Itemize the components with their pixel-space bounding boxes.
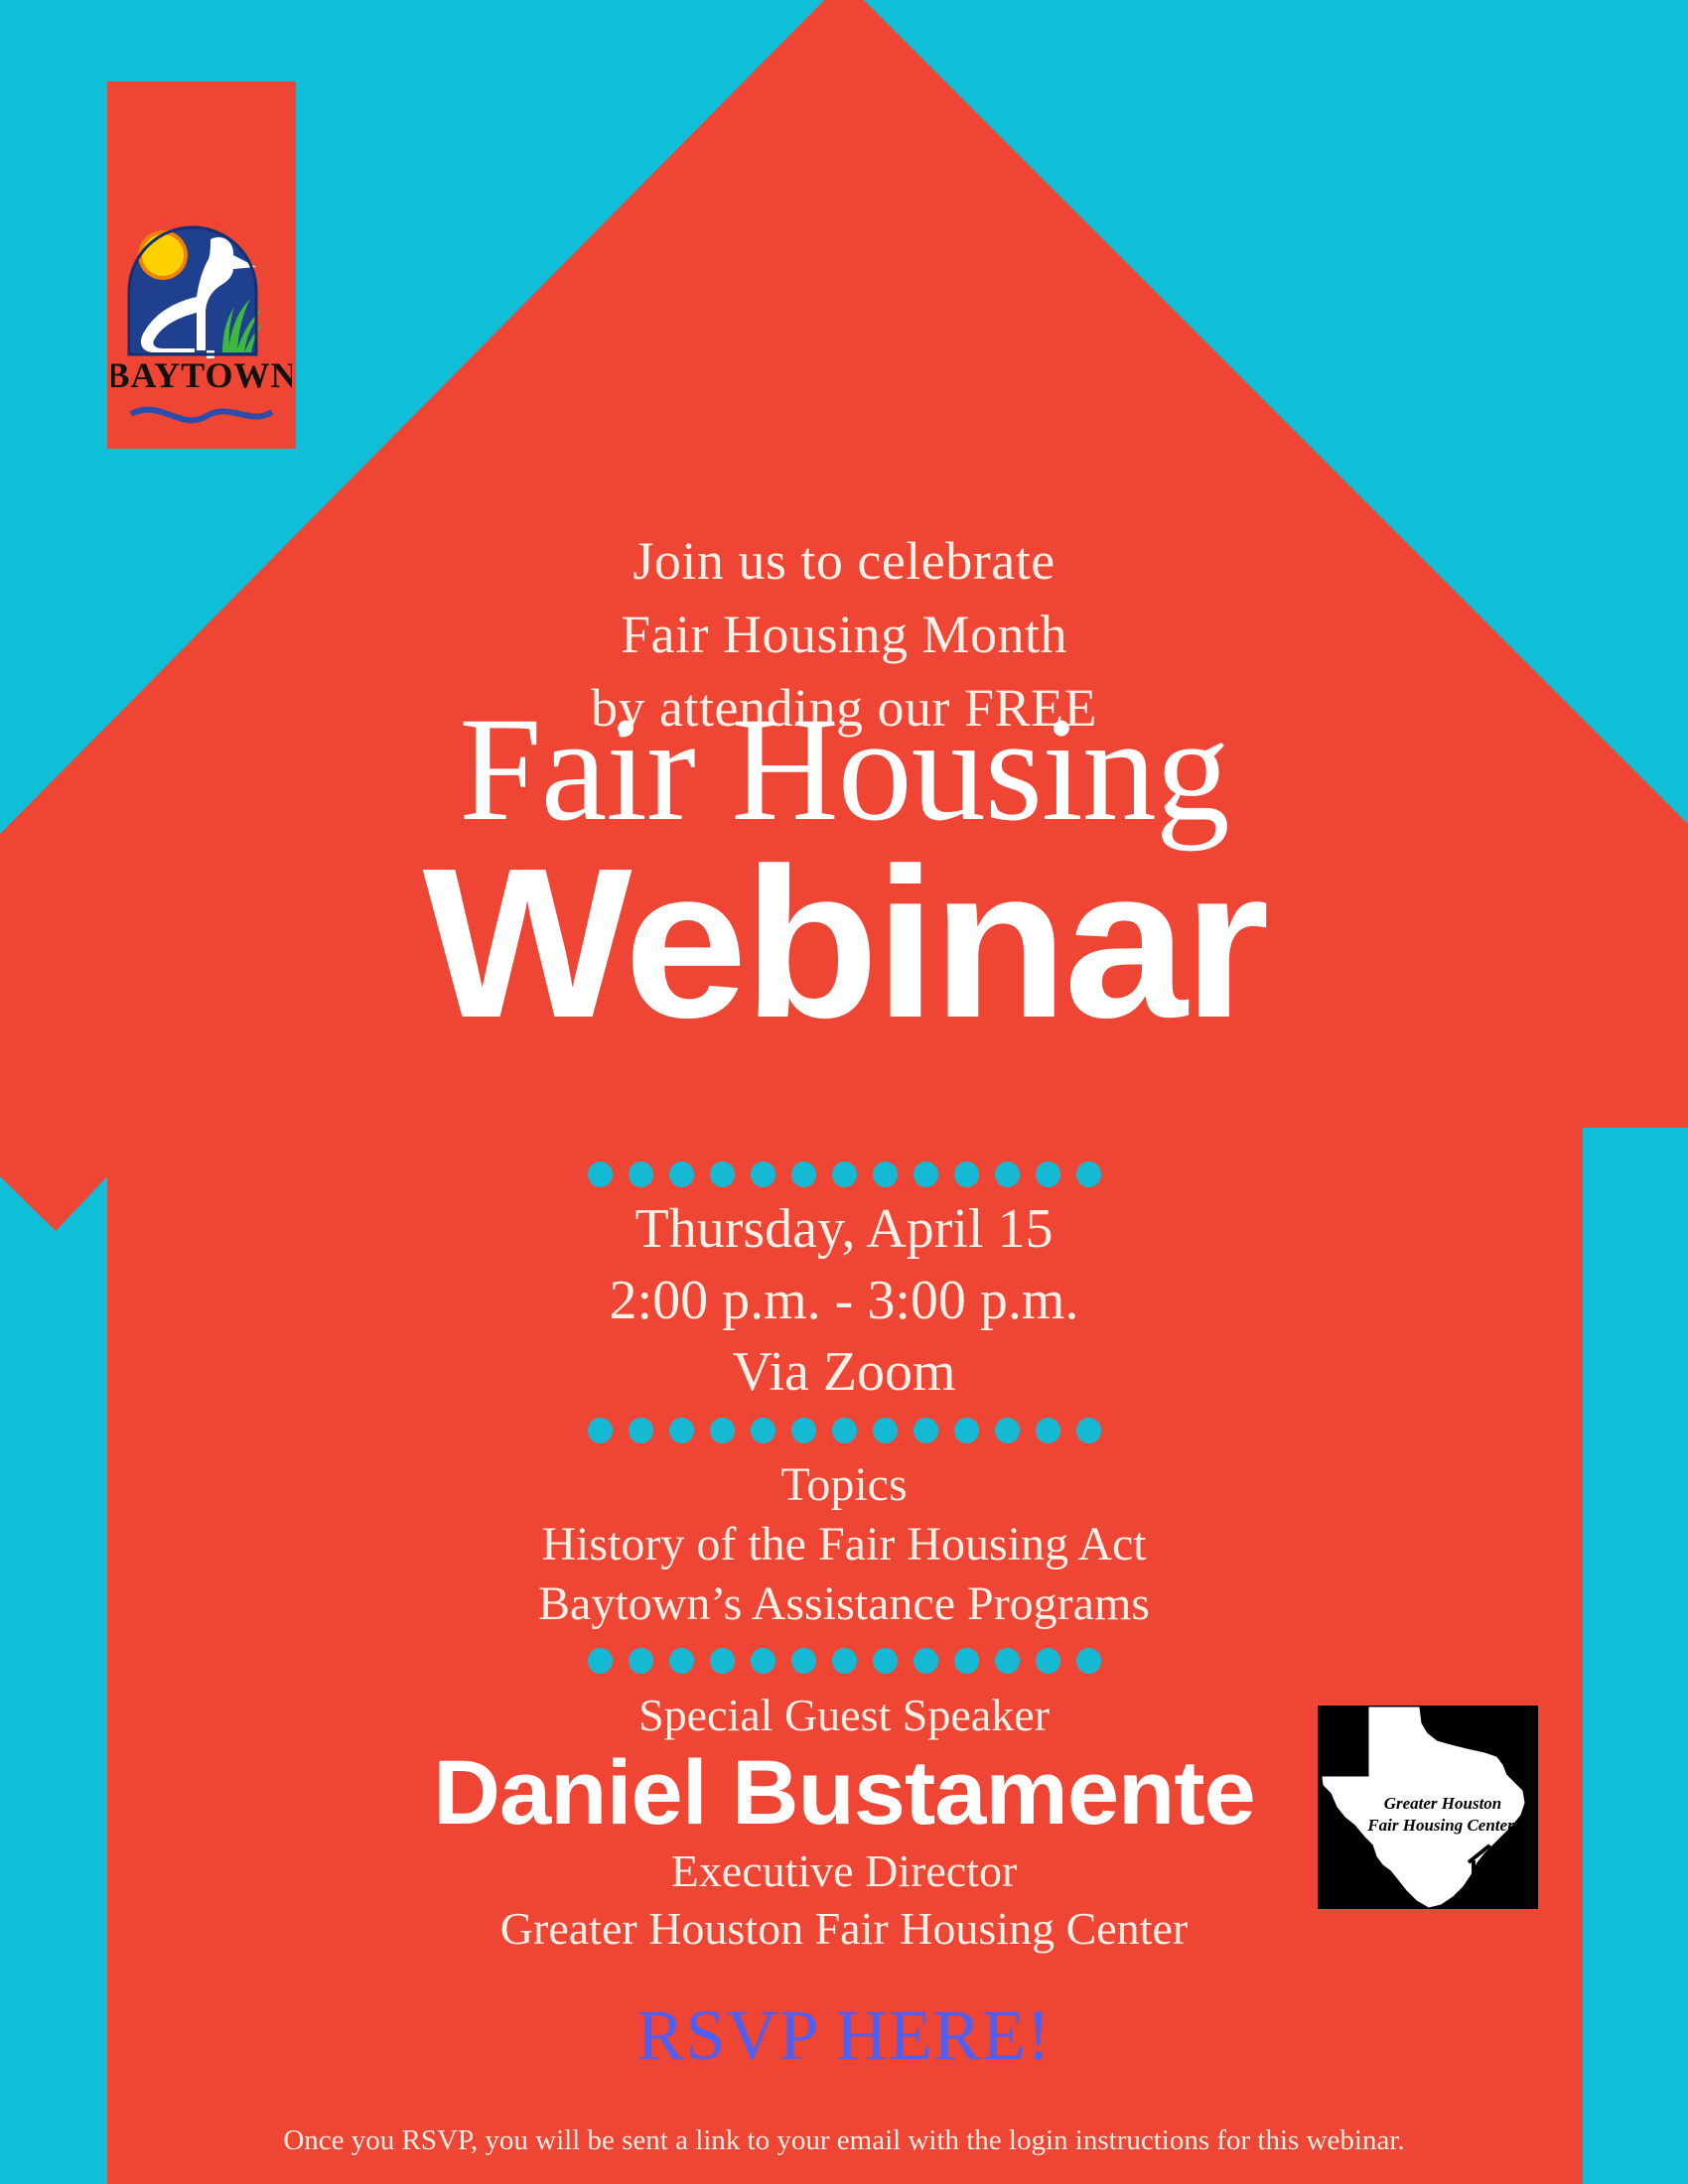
ghfhc-line-2: Fair Housing Center — [1366, 1816, 1514, 1835]
divider-dot — [914, 1161, 938, 1187]
divider-dot — [1076, 1161, 1101, 1187]
event-details-block: Thursday, April 15 2:00 p.m. - 3:00 p.m.… — [0, 1193, 1688, 1408]
divider-dot — [1076, 1648, 1101, 1674]
divider-dot — [588, 1161, 613, 1187]
event-platform: Via Zoom — [0, 1336, 1688, 1408]
divider-dot — [791, 1418, 816, 1443]
divider-dot — [751, 1418, 775, 1443]
divider-dot — [791, 1161, 816, 1187]
topics-heading: Topics — [0, 1455, 1688, 1515]
divider-dot — [954, 1418, 979, 1443]
greater-houston-fair-housing-center-logo: Greater Houston Fair Housing Center — [1318, 1706, 1538, 1909]
divider-dot — [914, 1418, 938, 1443]
divider-dot — [710, 1418, 735, 1443]
divider-dot — [1076, 1418, 1101, 1443]
intro-line-1: Join us to celebrate — [0, 524, 1688, 598]
ghfhc-line-1: Greater Houston — [1384, 1794, 1502, 1813]
divider-dot — [751, 1648, 775, 1674]
footer-note: Once you RSVP, you will be sent a link t… — [0, 2122, 1688, 2158]
divider-dot — [751, 1161, 775, 1187]
divider-dot — [954, 1161, 979, 1187]
rsvp-here-link[interactable]: RSVP HERE! — [636, 1995, 1051, 2075]
baytown-logo: BAYTOWN — [111, 184, 292, 442]
divider-dot — [995, 1648, 1020, 1674]
baytown-wordmark: BAYTOWN — [111, 355, 292, 395]
divider-dot — [629, 1648, 653, 1674]
dot-divider-3 — [0, 1648, 1688, 1674]
divider-dot — [629, 1418, 653, 1443]
divider-dot — [873, 1648, 898, 1674]
divider-dot — [669, 1418, 694, 1443]
topics-block: Topics History of the Fair Housing Act B… — [0, 1455, 1688, 1634]
dot-divider-2 — [0, 1418, 1688, 1443]
divider-dot — [995, 1418, 1020, 1443]
divider-dot — [873, 1418, 898, 1443]
title-block: Fair Housing Webinar — [0, 695, 1688, 1042]
divider-dot — [669, 1648, 694, 1674]
title-fair-housing: Fair Housing — [0, 695, 1688, 844]
divider-dot — [995, 1161, 1020, 1187]
sun-core-icon — [142, 234, 184, 276]
topic-item-2: Baytown’s Assistance Programs — [0, 1574, 1688, 1634]
divider-dot — [832, 1648, 857, 1674]
divider-dot — [710, 1648, 735, 1674]
divider-dot — [791, 1648, 816, 1674]
divider-dot — [832, 1161, 857, 1187]
divider-dot — [1036, 1161, 1060, 1187]
event-date: Thursday, April 15 — [0, 1193, 1688, 1265]
divider-dot — [629, 1161, 653, 1187]
footer-note-block: Once you RSVP, you will be sent a link t… — [0, 2122, 1688, 2158]
dot-divider-1 — [0, 1161, 1688, 1187]
rsvp-block: RSVP HERE! — [0, 1995, 1688, 2075]
divider-dot — [914, 1648, 938, 1674]
fair-housing-webinar-flyer: BAYTOWN Join us to celebrate Fair Housin… — [0, 0, 1688, 2184]
divider-dot — [954, 1648, 979, 1674]
divider-dot — [873, 1161, 898, 1187]
intro-line-2: Fair Housing Month — [0, 598, 1688, 671]
divider-dot — [1036, 1648, 1060, 1674]
divider-dot — [669, 1161, 694, 1187]
divider-dot — [1036, 1418, 1060, 1443]
divider-dot — [588, 1418, 613, 1443]
divider-dot — [710, 1161, 735, 1187]
divider-dot — [832, 1418, 857, 1443]
title-webinar: Webinar — [0, 844, 1688, 1042]
topic-item-1: History of the Fair Housing Act — [0, 1515, 1688, 1574]
divider-dot — [588, 1648, 613, 1674]
baytown-wave — [131, 410, 272, 421]
event-time: 2:00 p.m. - 3:00 p.m. — [0, 1265, 1688, 1336]
